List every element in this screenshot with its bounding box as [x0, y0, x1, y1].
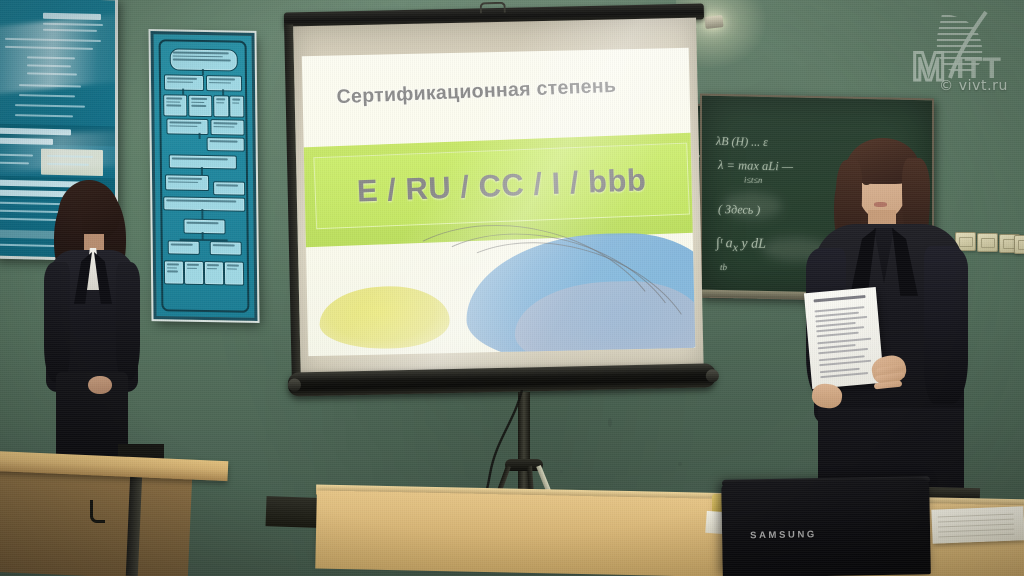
clasped-hands: [88, 376, 112, 394]
projection-screen: Сертификационная степень E / RU / CC / I…: [284, 0, 713, 407]
classroom-photo: λ(y)·aLi (2) λB (H) ... ε λ = max aLi — …: [0, 0, 1024, 576]
slide-title: Сертификационная степень: [336, 75, 616, 109]
slide-code-box: E / RU / CC / I / bbb: [313, 143, 690, 230]
laptop[interactable]: SAMSUNG: [721, 479, 931, 576]
power-outlet[interactable]: [1014, 235, 1024, 254]
screen-hanger-clip: [480, 2, 506, 14]
mouth: [874, 202, 887, 207]
presentation-slide: Сертификационная степень E / RU / CC / I…: [302, 48, 695, 356]
arm-right: [924, 246, 968, 404]
wall-lamp: [704, 15, 723, 29]
watermark-url: © vivt.ru: [939, 78, 1008, 94]
wall-mark: [678, 462, 682, 466]
wall-mark: [608, 418, 612, 427]
flowchart-poster: [150, 31, 257, 321]
arm-right: [116, 262, 140, 380]
screen-surface: Сертификационная степень E / RU / CC / I…: [293, 18, 704, 377]
laptop-brand-label: SAMSUNG: [750, 529, 817, 541]
desk-hook: [90, 500, 105, 523]
desk-papers[interactable]: [931, 506, 1024, 544]
slide-certification-code: E / RU / CC / I / bbb: [356, 162, 647, 209]
arm-left: [44, 262, 70, 382]
presenter-left: [36, 176, 148, 486]
